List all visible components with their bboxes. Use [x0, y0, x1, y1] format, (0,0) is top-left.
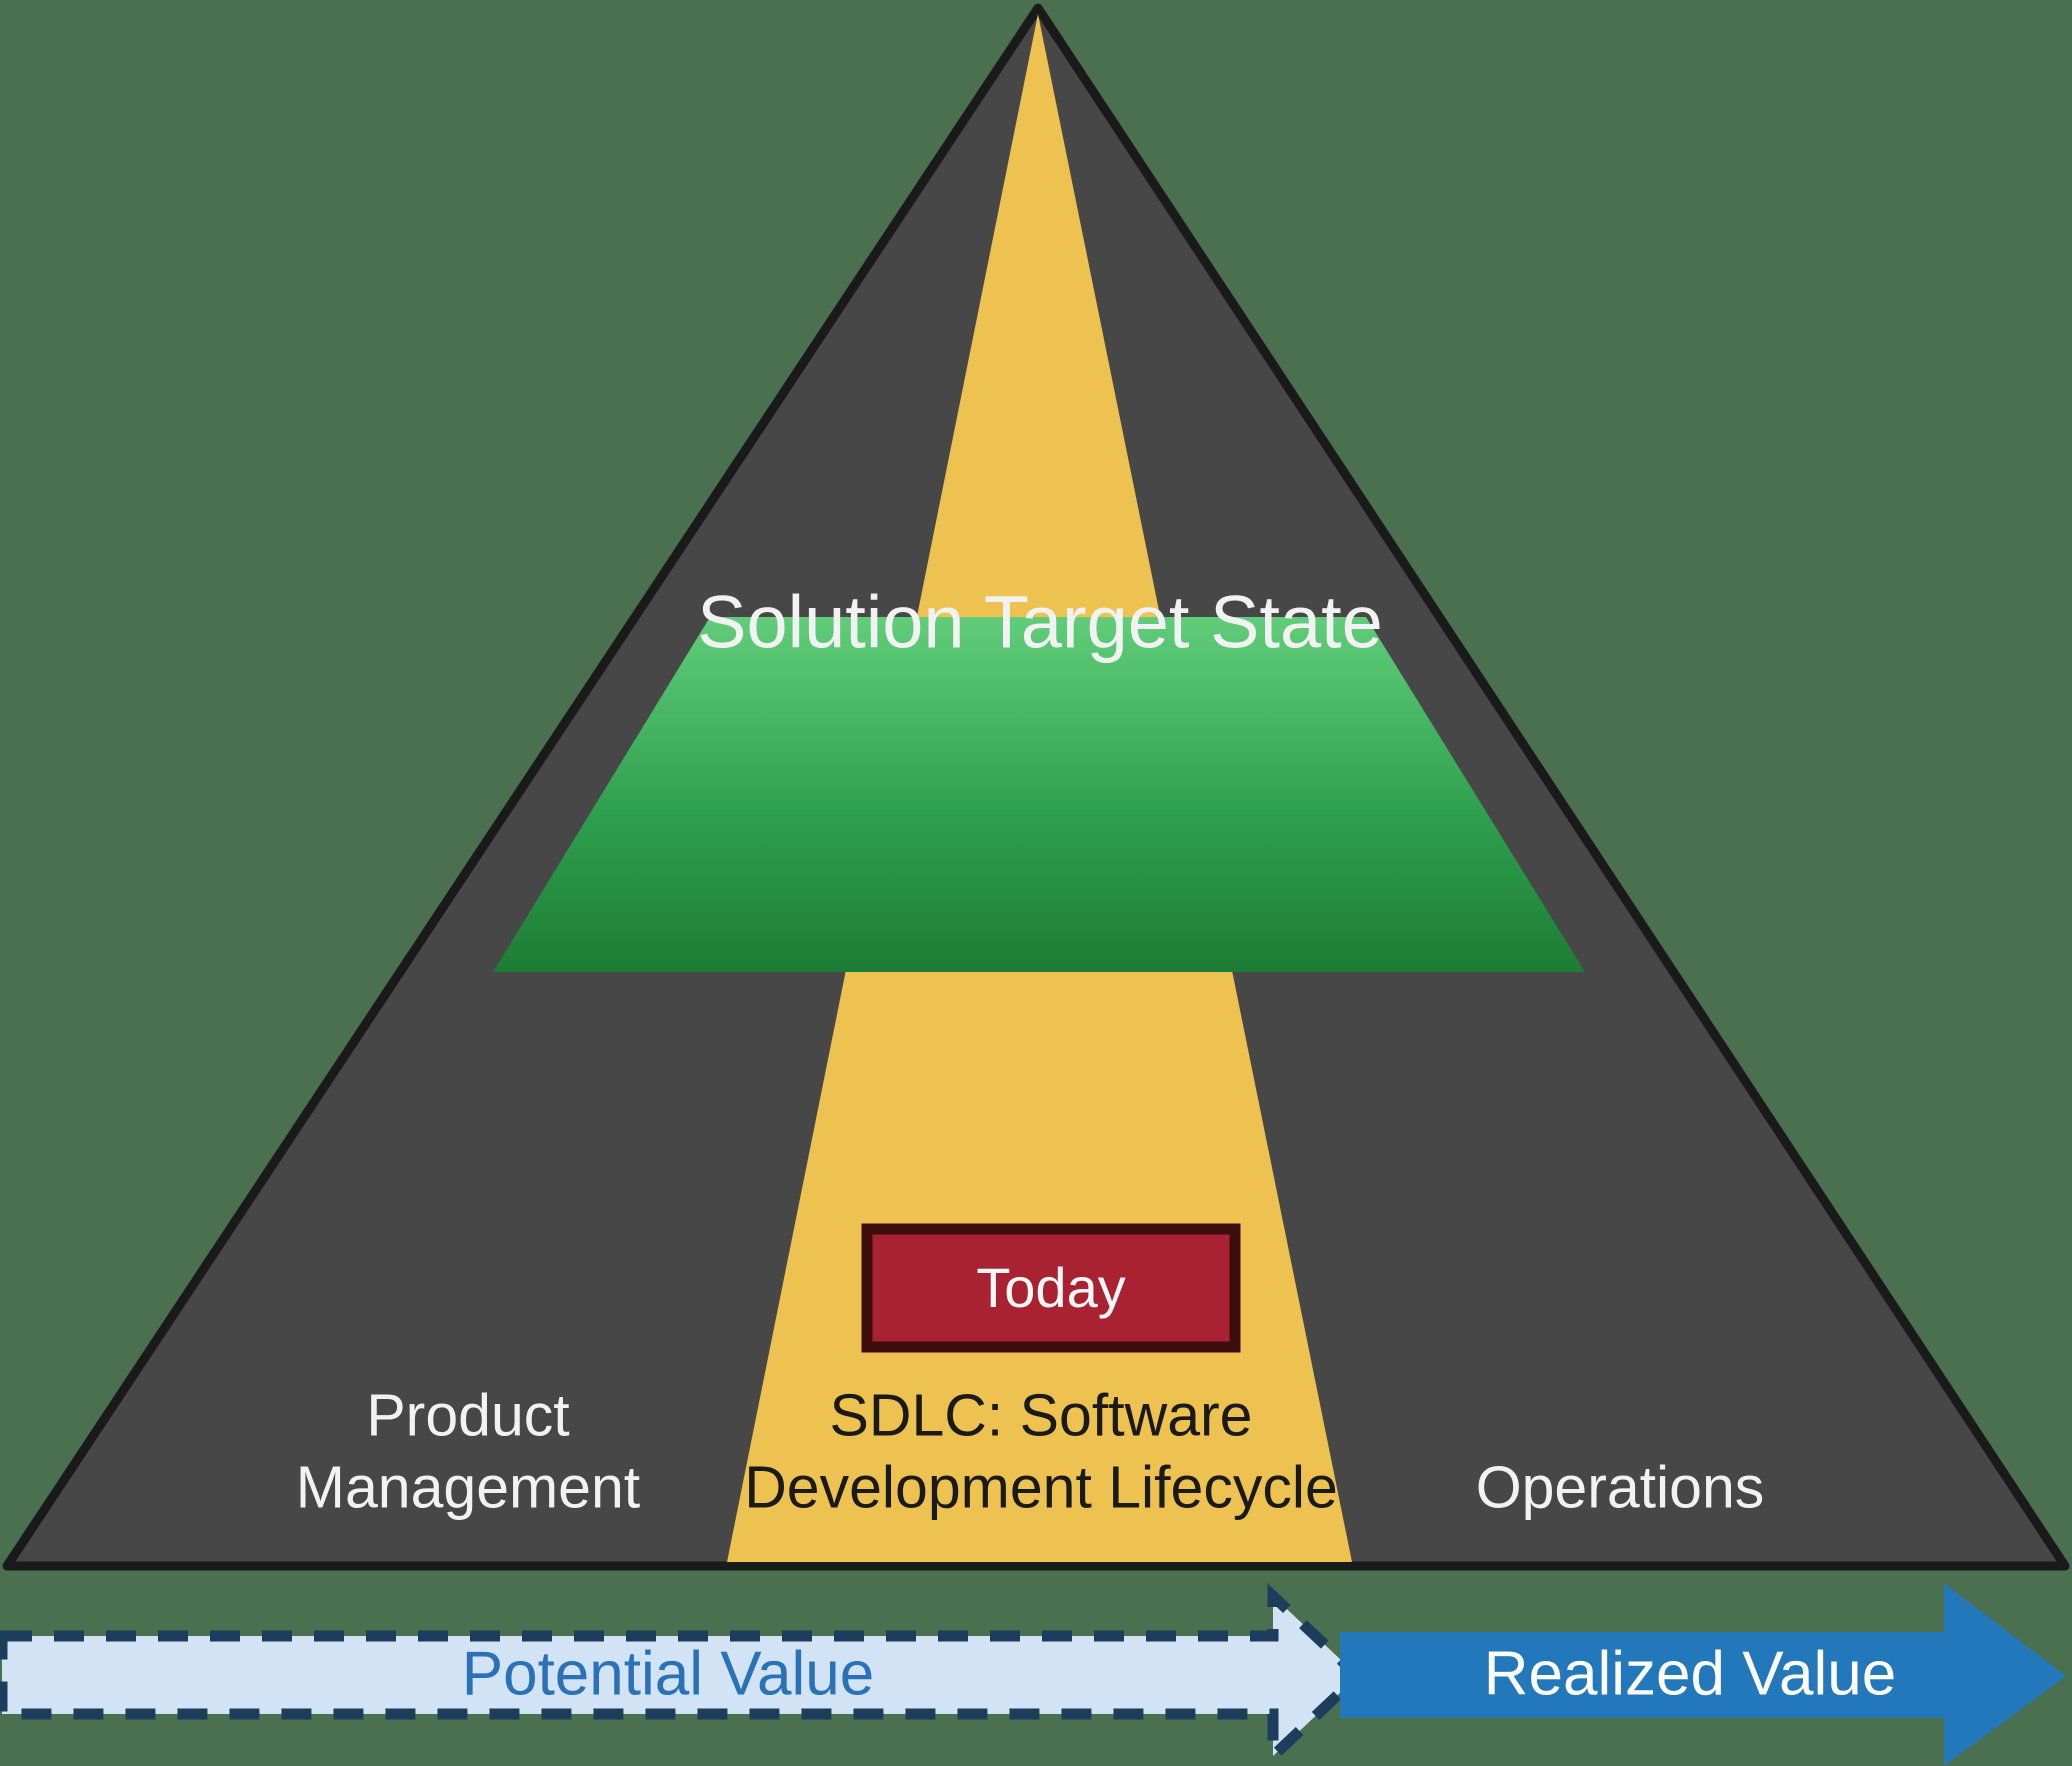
pillar-label-product-management-line2: Management: [296, 1455, 640, 1521]
potential-value-label: Potential Value: [462, 1639, 874, 1708]
today-marker-label: Today: [976, 1256, 1125, 1319]
realized-value-label: Realized Value: [1484, 1639, 1896, 1708]
pillar-label-product-management-line1: Product: [366, 1383, 569, 1449]
pillar-label-sdlc-line2: Development Lifecycle: [744, 1455, 1338, 1521]
pyramid-value-diagram: Solution Target State Today Product Mana…: [0, 0, 2072, 1766]
solution-target-state-label: Solution Target State: [697, 581, 1383, 664]
pillar-label-sdlc-line1: SDLC: Software: [830, 1383, 1253, 1449]
pillar-label-operations: Operations: [1476, 1455, 1765, 1521]
diagram-canvas: Solution Target State Today Product Mana…: [0, 0, 2072, 1766]
